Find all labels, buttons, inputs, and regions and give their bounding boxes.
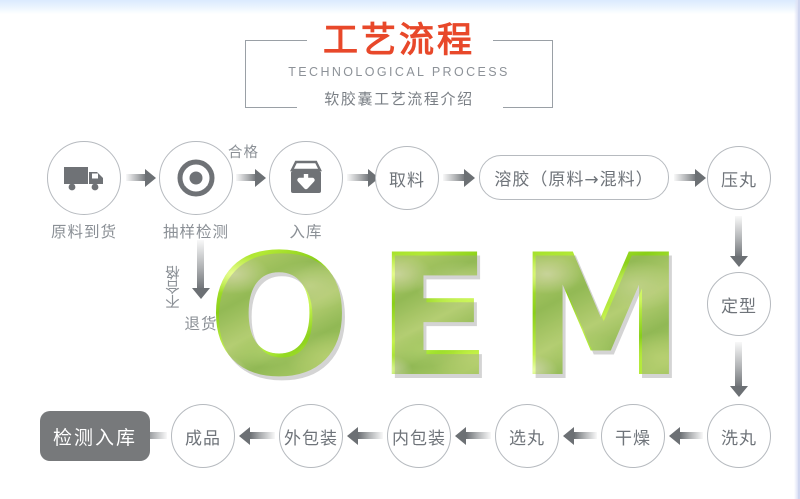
oem-watermark: O E M <box>196 236 696 396</box>
label-qualified: 合格 <box>228 141 259 162</box>
watermark-letter-e: E <box>376 241 491 391</box>
arrow-arrival-to-sampling <box>126 169 156 187</box>
node-sol-gel[interactable]: 溶胶（原料→混料） <box>479 155 669 200</box>
arrow-solgel-to-pressing <box>674 169 706 187</box>
inbox-arrow-down-icon <box>286 160 326 196</box>
node-inspection-storage[interactable]: 检测入库 <box>40 411 150 461</box>
page-subtitle: 软胶囊工艺流程介绍 <box>245 88 553 110</box>
node-shaping[interactable]: 定型 <box>707 272 771 336</box>
node-drying[interactable]: 干燥 <box>601 404 665 468</box>
caption-return-goods: 退货 <box>168 312 234 334</box>
arrow-drying-to-selection <box>563 427 597 445</box>
node-pill-washing[interactable]: 洗丸 <box>707 404 771 468</box>
truck-icon <box>63 163 105 193</box>
arrow-pressing-to-shaping <box>730 216 748 268</box>
node-warehousing[interactable] <box>269 141 343 215</box>
arrow-shaping-to-washing <box>730 342 748 398</box>
arrow-sampling-to-warehousing <box>236 169 266 187</box>
arrow-sampling-to-return <box>192 240 210 300</box>
caption-raw-material-arrival: 原料到货 <box>35 220 133 242</box>
flowchart-page: 工艺流程 TECHNOLOGICAL PROCESS 软胶囊工艺流程介绍 O E… <box>0 0 800 499</box>
node-pill-selection[interactable]: 选丸 <box>495 404 559 468</box>
inspection-icon <box>174 156 218 200</box>
caption-warehousing: 入库 <box>272 220 340 242</box>
node-sampling-inspection[interactable] <box>159 141 233 215</box>
page-title: 工艺流程 <box>245 20 553 62</box>
node-inner-packaging[interactable]: 内包装 <box>387 404 451 468</box>
node-pill-pressing[interactable]: 压丸 <box>707 146 771 210</box>
watermark-letter-m: M <box>517 241 684 391</box>
node-finished-product[interactable]: 成品 <box>171 404 235 468</box>
node-outer-packaging[interactable]: 外包装 <box>279 404 343 468</box>
arrow-outer-packaging-to-finished <box>239 427 275 445</box>
arrow-inner-to-outer-packaging <box>347 427 383 445</box>
arrow-pickup-to-solgel <box>443 169 475 187</box>
label-unqualified: 不合格 <box>163 253 184 309</box>
arrow-selection-to-inner-packaging <box>455 427 491 445</box>
node-material-pickup[interactable]: 取料 <box>375 146 439 210</box>
caption-sampling-inspection: 抽样检测 <box>147 220 245 242</box>
arrow-washing-to-drying <box>669 427 703 445</box>
top-gradient-band <box>0 0 800 14</box>
node-raw-material-arrival[interactable] <box>47 141 121 215</box>
page-title-block: 工艺流程 TECHNOLOGICAL PROCESS 软胶囊工艺流程介绍 <box>245 28 555 110</box>
page-title-en: TECHNOLOGICAL PROCESS <box>245 64 553 80</box>
